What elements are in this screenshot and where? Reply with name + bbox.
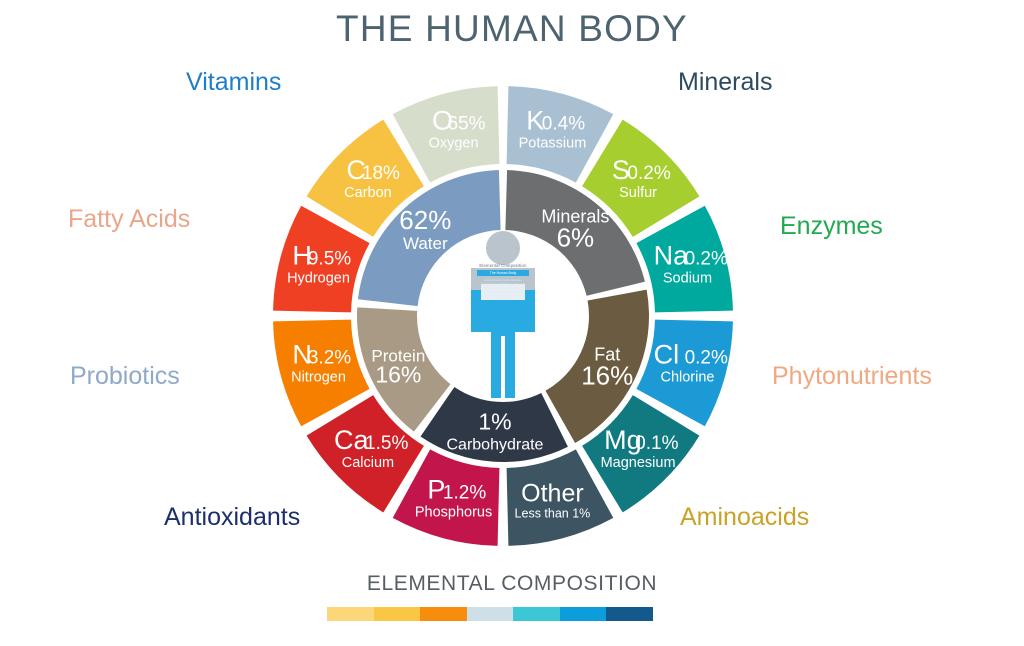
slice-value: 16% xyxy=(375,362,421,388)
slice-value: 16% xyxy=(581,361,633,391)
slice-value: 18% xyxy=(362,163,400,184)
slice-name: Sodium xyxy=(663,271,712,287)
slice-value: 62% xyxy=(399,205,451,235)
figure-card-bg xyxy=(481,284,525,300)
inner-slice-label-group: 62%Water xyxy=(399,205,451,253)
slice-title: Other xyxy=(521,479,584,507)
slice-value: 0.4% xyxy=(542,114,585,135)
slice-value: 1.5% xyxy=(365,433,408,454)
slice-value: 3.2% xyxy=(308,347,351,368)
slice-name: Chlorine xyxy=(660,369,714,385)
legend-bar-segment-6 xyxy=(606,607,653,621)
slice-symbol: Cl xyxy=(654,339,680,369)
footer-title: ELEMENTAL COMPOSITION xyxy=(0,572,1024,596)
category-label-minerals[interactable]: Minerals xyxy=(678,68,772,97)
slice-name: Sulfur xyxy=(619,185,657,201)
slice-value: 1% xyxy=(478,409,511,435)
slice-value: 1.2% xyxy=(443,482,486,503)
slice-value: 65% xyxy=(448,114,486,135)
outer-slice-label-group: OtherLess than 1% xyxy=(515,479,591,520)
slice-name: Oxygen xyxy=(429,136,479,152)
category-label-enzymes[interactable]: Enzymes xyxy=(780,212,883,241)
inner-slice-label-group: Protein16% xyxy=(371,347,425,388)
slice-name: Phosphorus xyxy=(415,504,492,520)
slice-name: Potassium xyxy=(519,136,587,152)
slice-value: 6% xyxy=(557,223,595,253)
legend-bar-segment-3 xyxy=(467,607,514,621)
slice-name: Water xyxy=(403,234,448,253)
slice-name: Calcium xyxy=(342,455,394,471)
slice-value: 0.2% xyxy=(685,347,728,368)
slice-value: 9.5% xyxy=(308,249,351,270)
legend-bar-segment-5 xyxy=(560,607,607,621)
slice-subtitle: Less than 1% xyxy=(515,506,591,520)
category-label-fatty-acids[interactable]: Fatty Acids xyxy=(68,205,190,234)
legend-bar-segment-0 xyxy=(327,607,374,621)
donut-chart: O65%OxygenK0.4%PotassiumS0.2%SulfurNa0.2… xyxy=(0,0,1024,646)
slice-name: Nitrogen xyxy=(291,369,346,385)
legend-bar-segment-1 xyxy=(374,607,421,621)
category-label-probiotics[interactable]: Probiotics xyxy=(70,362,180,391)
infographic-canvas: THE HUMAN BODY O65%OxygenK0.4%PotassiumS… xyxy=(0,0,1024,646)
figure-head xyxy=(486,231,520,265)
slice-value: 0.2% xyxy=(627,163,670,184)
category-label-vitamins[interactable]: Vitamins xyxy=(186,68,281,97)
slice-name: Carbon xyxy=(344,185,392,201)
slice-name: Magnesium xyxy=(601,455,676,471)
slice-name: Carbohydrate xyxy=(447,437,544,454)
legend-bar-segment-4 xyxy=(513,607,560,621)
category-label-phytonutrients[interactable]: Phytonutrients xyxy=(772,362,932,391)
slice-value: 0.2% xyxy=(685,249,728,270)
legend-bar-segment-2 xyxy=(420,607,467,621)
category-label-antioxidants[interactable]: Antioxidants xyxy=(164,503,300,532)
category-label-aminoacids[interactable]: Aminoacids xyxy=(680,503,809,532)
legend-color-bar xyxy=(327,607,653,621)
slice-name: Hydrogen xyxy=(287,271,350,287)
slice-value: 0.1% xyxy=(635,433,678,454)
